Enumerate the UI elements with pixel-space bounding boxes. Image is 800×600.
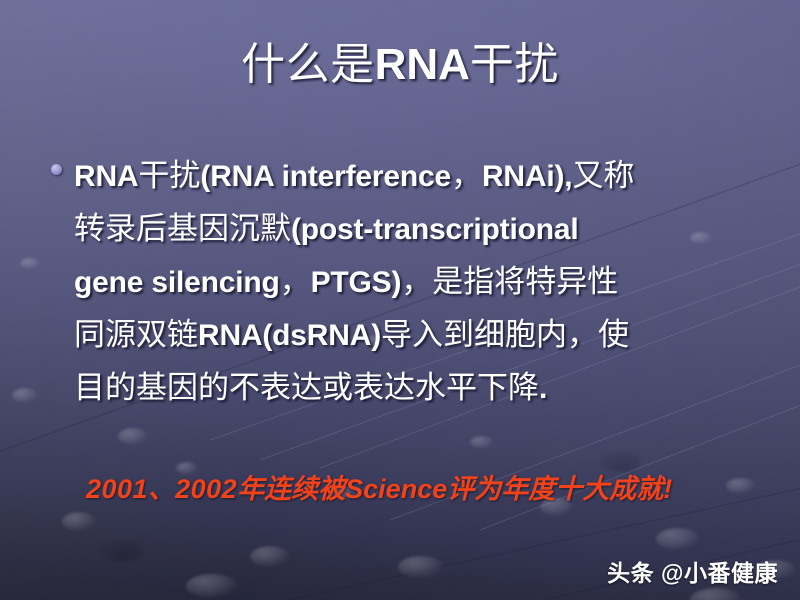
body-line-5-seg-0: 目的基因的不表达或表达水平下降 bbox=[74, 370, 539, 405]
slide-canvas: 什么是RNA干扰 RNA干扰(RNA interference，RNAi),又称… bbox=[0, 0, 800, 600]
watermark: 头条 @小番健康 bbox=[607, 558, 778, 588]
bullet-paragraph: RNA干扰(RNA interference，RNAi),又称 转录后基因沉默(… bbox=[42, 150, 758, 415]
body-line-1-seg-0: RNA bbox=[74, 160, 138, 193]
body-line-4-seg-2: 导入到细胞内，使 bbox=[381, 317, 629, 352]
body-line-5: 目的基因的不表达或表达水平下降. bbox=[74, 362, 758, 415]
body-line-1: RNA干扰(RNA interference，RNAi),又称 bbox=[74, 150, 758, 203]
body-line-3-seg-0: gene silencing bbox=[74, 266, 280, 299]
body-line-1-seg-5: 又称 bbox=[572, 158, 634, 193]
body-line-3: gene silencing，PTGS)，是指将特异性 bbox=[74, 256, 758, 309]
highlight-seg-1: 、 bbox=[148, 474, 175, 504]
highlight-note: 2001、2002年连续被Science评为年度十大成就! bbox=[86, 470, 786, 508]
body-line-4-seg-0: 同源双链 bbox=[74, 317, 198, 352]
title-text-cn-left: 什么是 bbox=[241, 40, 375, 89]
highlight-seg-3: 年连续被 bbox=[237, 474, 345, 504]
slide-title: 什么是RNA干扰 bbox=[0, 38, 800, 92]
body-content: RNA干扰(RNA interference，RNAi),又称 转录后基因沉默(… bbox=[42, 150, 758, 415]
body-line-1-seg-2: (RNA interference bbox=[200, 160, 451, 193]
highlight-seg-2: 2002 bbox=[175, 474, 237, 504]
body-line-5-seg-1: . bbox=[539, 372, 547, 405]
highlight-seg-6: ! bbox=[663, 474, 672, 504]
highlight-seg-0: 2001 bbox=[86, 474, 148, 504]
body-line-2-seg-0: 转录后基因沉默 bbox=[74, 211, 291, 246]
body-line-2: 转录后基因沉默(post-transcriptional bbox=[74, 203, 758, 256]
title-text-latin: RNA bbox=[375, 40, 470, 89]
title-text-cn-right: 干扰 bbox=[470, 40, 559, 89]
highlight-seg-4: Science bbox=[345, 474, 447, 504]
bullet-dot-icon bbox=[51, 164, 62, 175]
body-line-3-seg-3: ，是指将特异性 bbox=[401, 264, 618, 299]
body-line-1-seg-3: ， bbox=[451, 158, 482, 193]
body-line-3-seg-1: ， bbox=[280, 264, 311, 299]
highlight-seg-5: 评为年度十大成就 bbox=[447, 474, 663, 504]
body-line-1-seg-4: RNAi), bbox=[482, 160, 572, 193]
body-line-4-seg-1: RNA(dsRNA) bbox=[198, 319, 381, 352]
body-line-3-seg-2: PTGS) bbox=[311, 266, 402, 299]
body-line-4: 同源双链RNA(dsRNA)导入到细胞内，使 bbox=[74, 309, 758, 362]
body-line-2-seg-1: (post-transcriptional bbox=[291, 213, 578, 246]
body-line-1-seg-1: 干扰 bbox=[138, 158, 200, 193]
